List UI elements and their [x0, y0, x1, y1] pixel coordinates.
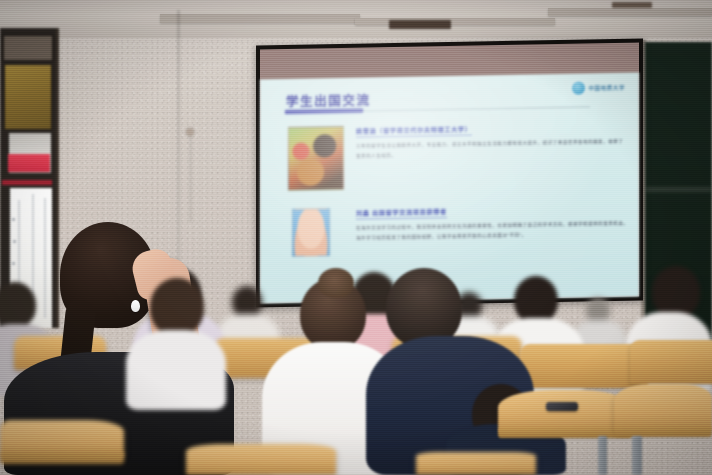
wall-hook-cord [190, 136, 191, 222]
group-photo-thumbnail [288, 126, 344, 191]
ceiling-beam [355, 18, 555, 25]
projection-screen: 学生出国交流 中国地质大学 姚雪涵（留学荷兰代尔夫特理工大学） 三年的留学生活让… [256, 38, 643, 307]
lecture-hall-photo: 学生出国交流 中国地质大学 姚雪涵（留学荷兰代尔夫特理工大学） 三年的留学生活让… [0, 0, 712, 475]
block-one-body-line: 三年的留学生活让我眼界大开，专业能力、语言水平和独立生活能力都有很大提升，结识了… [356, 139, 623, 150]
ceiling-beam [160, 14, 360, 23]
chalkboard-rail [645, 188, 712, 191]
ceiling-vent [389, 20, 451, 29]
block-two-heading: 刘鑫 出国留学交流项目获得者 [356, 207, 447, 220]
desk-leg [632, 436, 642, 475]
smartphone-on-desk[interactable] [546, 402, 578, 411]
door-gold-panel [4, 64, 52, 130]
university-seal-icon [572, 82, 585, 95]
slide-title-accent-bar [285, 109, 363, 114]
desk-leg [598, 436, 607, 475]
door-top-panel [2, 34, 54, 62]
earbud-icon [131, 300, 140, 312]
fold-down-desk[interactable] [614, 384, 712, 432]
lecture-seat[interactable] [520, 344, 648, 388]
block-two-body-line: 在海外交流学习的过程中，我深刻体会到跨文化沟通的重要性，也更加明确了自己的学术方… [356, 221, 628, 232]
block-two-body-line: 海外学习经历拓宽了我的国际视野，让我学会用更开放的心态去面对"不同"。 [356, 233, 527, 242]
head [514, 276, 558, 324]
lecture-seat[interactable] [630, 340, 712, 384]
desk-edge [498, 428, 632, 438]
door-red-banner [8, 154, 50, 172]
head [150, 278, 204, 336]
window-speck [13, 240, 16, 243]
portrait-photo-thumbnail [292, 208, 330, 257]
university-logo: 中国地质大学 [572, 81, 625, 95]
window-speck [12, 262, 15, 265]
ceiling-vent [612, 2, 652, 8]
fold-down-desk[interactable] [416, 452, 536, 475]
block-one-heading: 姚雪涵（留学荷兰代尔夫特理工大学） [356, 125, 472, 138]
fold-down-desk[interactable] [186, 444, 336, 475]
desk-edge [0, 452, 124, 464]
desk-edge [614, 426, 712, 437]
torso [126, 330, 226, 410]
window-mullion [44, 198, 46, 318]
university-logo-label: 中国地质大学 [588, 83, 625, 92]
ceiling-beam [548, 8, 712, 16]
block-one-body-line: 宝贵的人生经历。 [356, 153, 396, 160]
wall-hook-icon [186, 128, 194, 136]
door-red-strip [2, 180, 52, 185]
slide-surface: 学生出国交流 中国地质大学 姚雪涵（留学荷兰代尔夫特理工大学） 三年的留学生活让… [260, 73, 639, 304]
hair-bun [318, 268, 354, 298]
slide-title: 学生出国交流 [286, 89, 371, 110]
head [652, 266, 700, 318]
window-speck [12, 218, 15, 221]
head [0, 282, 36, 328]
